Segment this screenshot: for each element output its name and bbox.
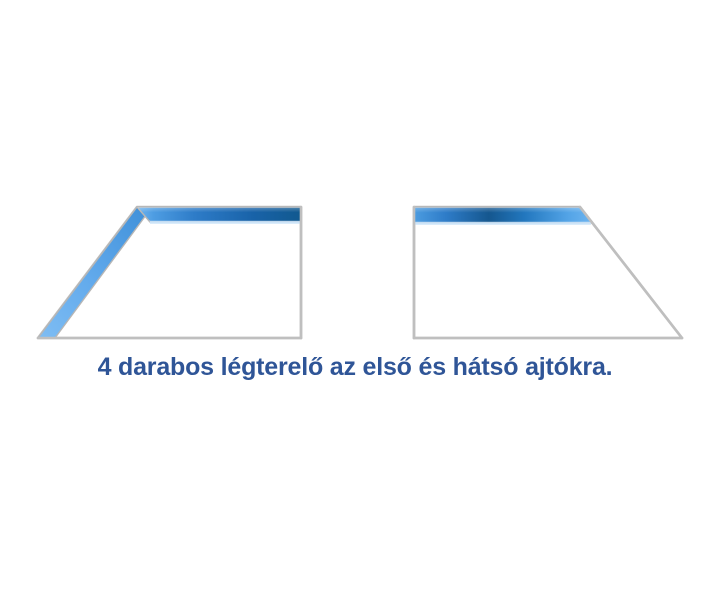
- deflector-glow-right: [414, 222, 591, 225]
- deflector-sheen-right: [414, 207, 592, 223]
- page-root: 4 darabos légterelő az első és hátsó ajt…: [0, 0, 710, 613]
- window-glass-outline-right: [414, 207, 682, 338]
- product-caption: 4 darabos légterelő az első és hátsó ajt…: [0, 352, 710, 382]
- wind-deflector-pair-illustration: [0, 0, 710, 613]
- front-door-window-left: [38, 207, 301, 338]
- deflector-glow-left: [150, 221, 301, 224]
- rear-door-window-right: [414, 207, 682, 338]
- deflector-sheen-left: [137, 207, 301, 222]
- window-glass-outline-left: [38, 207, 301, 338]
